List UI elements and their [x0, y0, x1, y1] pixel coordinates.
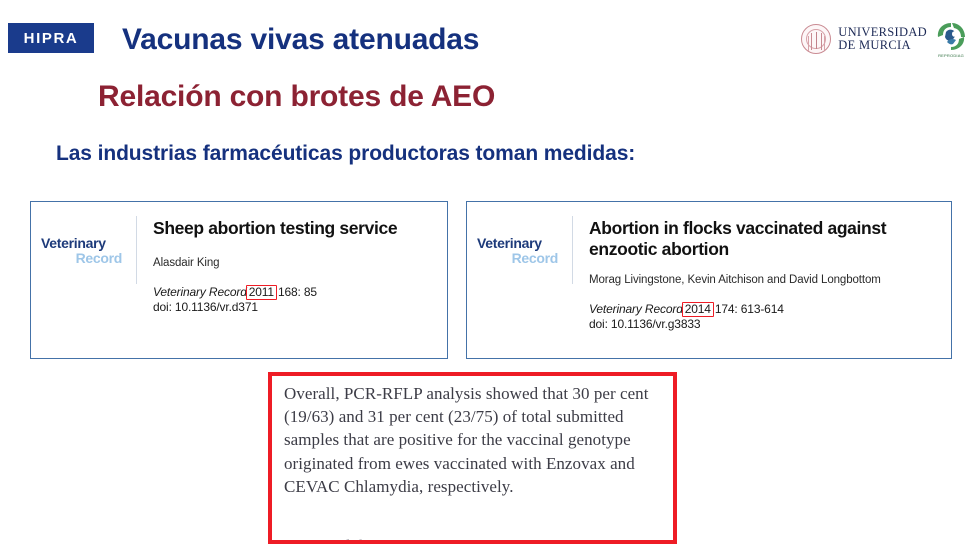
veterinary-record-logo-line2: Record	[477, 251, 562, 266]
article-card-left[interactable]: Veterinary Record Sheep abortion testing…	[30, 201, 448, 359]
quote-cutoff-line: contained the vaccine strains	[284, 534, 664, 544]
article-doi: doi: 10.1136/vr.d371	[153, 300, 437, 315]
page-title: Vacunas vivas atenuadas	[122, 23, 479, 57]
article-authors: Alasdair King	[153, 257, 437, 269]
veterinary-record-logo: Veterinary Record	[41, 216, 137, 284]
hipra-logo-text: HIPRA	[24, 30, 79, 47]
quote-text: Overall, PCR-RFLP analysis showed that 3…	[272, 376, 673, 498]
university-name: UNIVERSIDAD DE MURCIA	[838, 26, 927, 52]
article-title: Sheep abortion testing service	[153, 218, 437, 239]
article-citation: Veterinary Record2011168: 85 doi: 10.113…	[153, 285, 437, 315]
article-authors: Morag Livingstone, Kevin Aitchison and D…	[589, 274, 941, 286]
veterinary-record-logo: Veterinary Record	[477, 216, 573, 284]
veterinary-record-logo-line1: Veterinary	[477, 236, 562, 251]
university-name-line2: DE MURCIA	[838, 39, 927, 52]
university-logo-block: UNIVERSIDAD DE MURCIA REPRODIAG	[801, 18, 968, 60]
page-statement: Las industrias farmacéuticas productoras…	[56, 142, 635, 166]
citation-volume-pages: 168: 85	[278, 285, 317, 299]
citation-journal-name: Veterinary Record	[589, 302, 683, 316]
veterinary-record-logo-line2: Record	[41, 251, 126, 266]
university-seal-icon	[801, 24, 831, 54]
reprodiag-logo-icon: REPRODIAG	[934, 20, 968, 58]
veterinary-record-logo-line1: Veterinary	[41, 236, 126, 251]
citation-volume-pages: 174: 613-614	[715, 302, 784, 316]
article-doi: doi: 10.1136/vr.g3833	[589, 317, 941, 332]
hipra-logo: HIPRA	[8, 23, 94, 53]
reprodiag-logo-caption: REPRODIAG	[934, 53, 968, 58]
quote-highlight-box: Overall, PCR-RFLP analysis showed that 3…	[268, 372, 677, 544]
citation-year-highlight: 2011	[246, 285, 277, 300]
article-title: Abortion in flocks vaccinated against en…	[589, 218, 941, 260]
slide-canvas: HIPRA Vacunas vivas atenuadas Relación c…	[0, 0, 980, 551]
citation-journal-name: Veterinary Record	[153, 285, 247, 299]
article-card-right[interactable]: Veterinary Record Abortion in flocks vac…	[466, 201, 952, 359]
citation-year-highlight: 2014	[682, 302, 714, 317]
article-citation: Veterinary Record2014174: 613-614 doi: 1…	[589, 302, 941, 332]
page-subtitle: Relación con brotes de AEO	[98, 80, 495, 114]
